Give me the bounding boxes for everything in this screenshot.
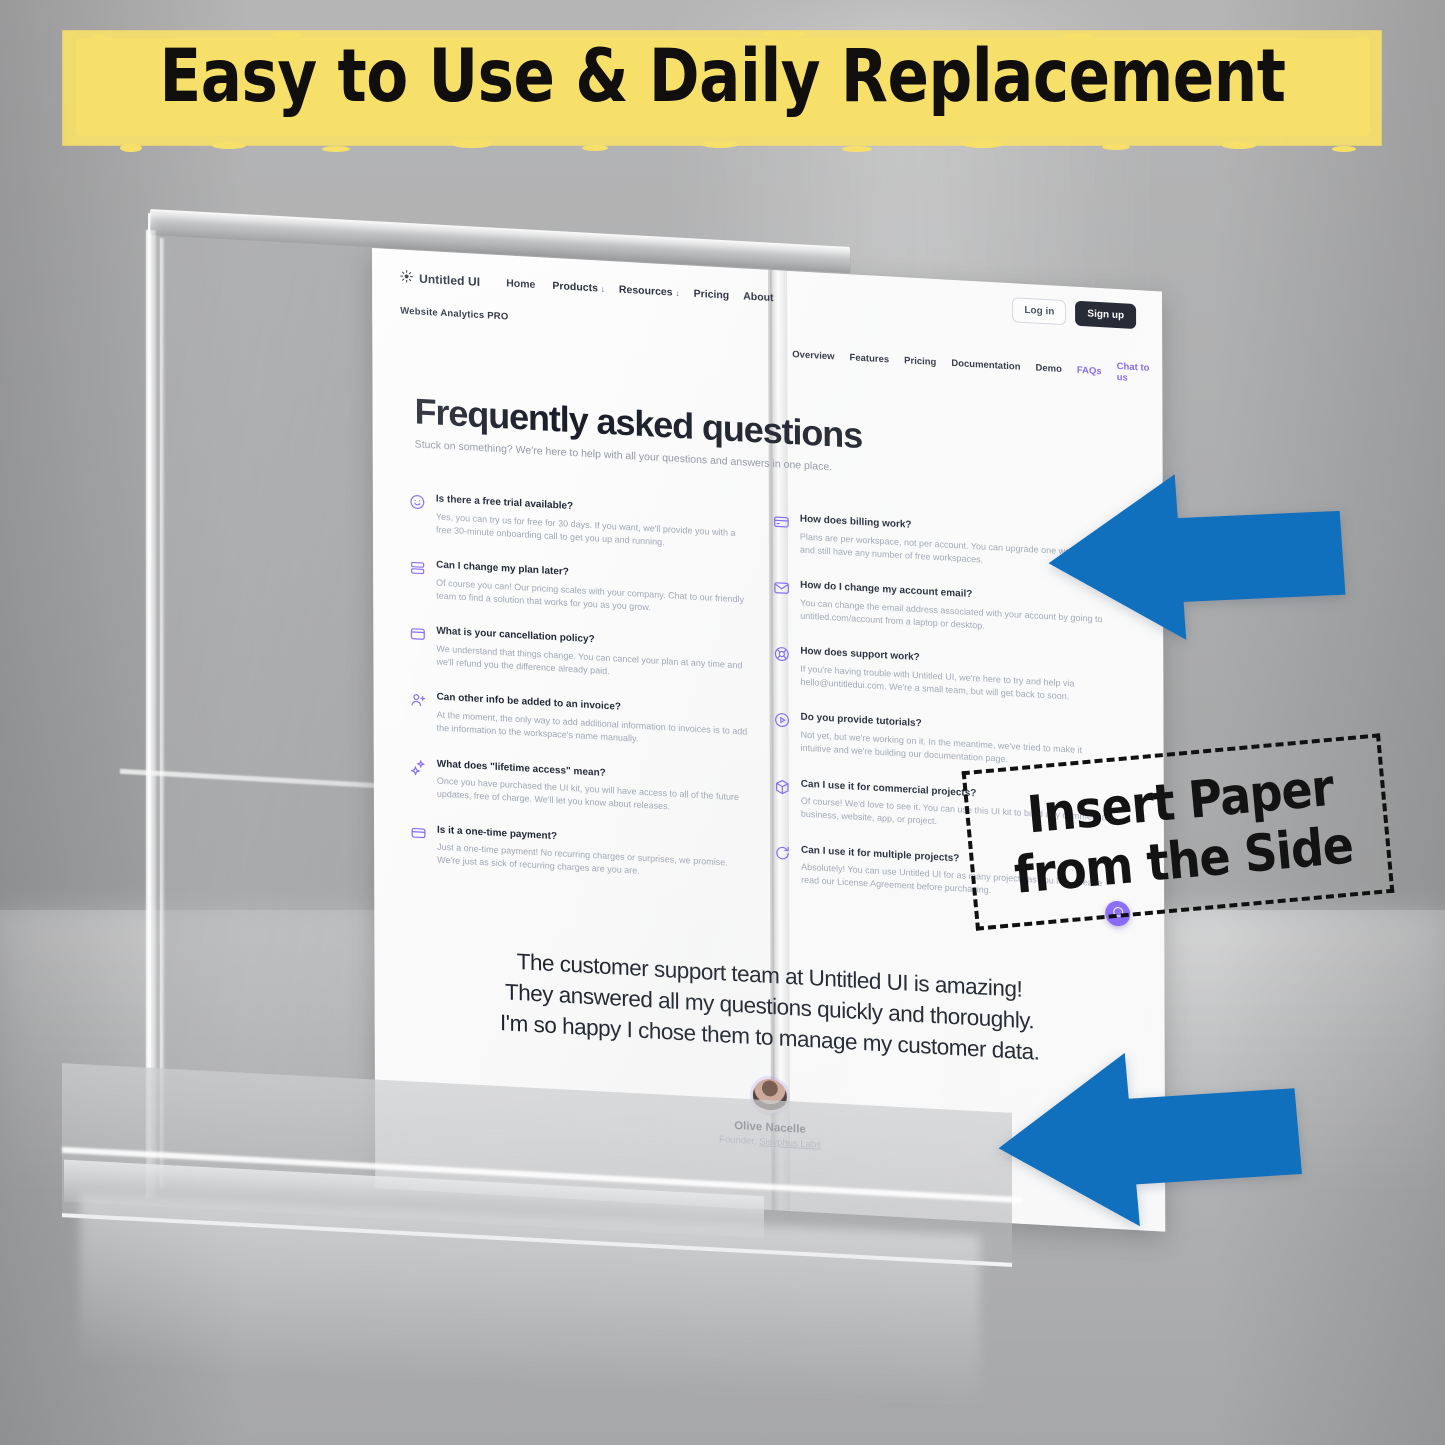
- nav-link-pricing[interactable]: Pricing: [694, 288, 730, 302]
- section-subnav: Overview Features Pricing Documentation …: [792, 343, 1162, 385]
- user-plus-icon: [410, 691, 427, 709]
- product-photo-scene: Untitled UI Home Products↓ Resources↓ Pr…: [0, 0, 1445, 1445]
- arrow-lower: [990, 1035, 1310, 1235]
- faq-item[interactable]: What is your cancellation policy? We und…: [409, 624, 749, 686]
- nav-link-home[interactable]: Home: [506, 277, 538, 291]
- auth-buttons: Log in Sign up: [1012, 297, 1136, 329]
- subnav-overview[interactable]: Overview: [792, 349, 834, 362]
- acrylic-left-highlight-inner: [160, 238, 165, 1188]
- subnav-pricing[interactable]: Pricing: [904, 355, 936, 368]
- headline-text: Easy to Use & Daily Replacement: [51, 34, 1395, 119]
- faq-item[interactable]: How does support work? If you're having …: [773, 644, 1113, 706]
- chevron-down-icon: ↓: [601, 284, 605, 293]
- card-icon: [410, 824, 427, 842]
- brand-logo[interactable]: Untitled UI: [400, 270, 480, 290]
- smiley-icon: [409, 493, 426, 511]
- brand-name: Untitled UI: [419, 272, 480, 289]
- sun-gear-icon: [400, 270, 413, 287]
- server-stack-icon: [409, 559, 426, 577]
- refresh-icon: [774, 844, 791, 862]
- subnav-features[interactable]: Features: [850, 352, 890, 365]
- acrylic-left-highlight: [146, 230, 156, 1199]
- nav-link-products[interactable]: Products↓: [552, 280, 605, 295]
- nav-link-about[interactable]: About: [743, 290, 773, 304]
- product-label: Website Analytics PRO: [400, 306, 508, 323]
- lifebuoy-icon: [773, 645, 790, 663]
- subnav-demo[interactable]: Demo: [1035, 362, 1061, 374]
- signup-button[interactable]: Sign up: [1075, 301, 1136, 329]
- arrow-upper: [1040, 455, 1350, 645]
- faq-column-left: Is there a free trial available? Yes, yo…: [409, 492, 750, 885]
- headline-banner: Easy to Use & Daily Replacement: [0, 0, 1445, 175]
- credit-card-icon: [773, 513, 790, 531]
- subnav-chat-to-us[interactable]: Chat to us: [1117, 361, 1163, 386]
- faq-item[interactable]: Is there a free trial available? Yes, yo…: [409, 492, 749, 554]
- cube-icon: [774, 778, 791, 796]
- subnav-documentation[interactable]: Documentation: [951, 357, 1020, 372]
- login-button[interactable]: Log in: [1012, 297, 1066, 325]
- nav-link-resources[interactable]: Resources↓: [619, 284, 680, 299]
- mail-icon: [773, 579, 790, 597]
- chevron-down-icon: ↓: [676, 288, 680, 297]
- play-circle-icon: [774, 711, 791, 729]
- faq-item[interactable]: Can other info be added to an invoice? A…: [410, 690, 750, 752]
- site-navbar: Untitled UI Home Products↓ Resources↓ Pr…: [400, 270, 773, 307]
- faq-item[interactable]: What does "lifetime access" mean? Once y…: [410, 757, 750, 819]
- faq-item[interactable]: Can I change my plan later? Of course yo…: [409, 558, 749, 620]
- browser-window-icon: [409, 625, 426, 643]
- nav-links: Home Products↓ Resources↓ Pricing About: [506, 277, 773, 304]
- faq-item[interactable]: Is it a one-time payment? Just a one-tim…: [410, 823, 750, 885]
- subnav-faqs[interactable]: FAQs: [1077, 364, 1102, 376]
- sparkle-icon: [410, 758, 427, 776]
